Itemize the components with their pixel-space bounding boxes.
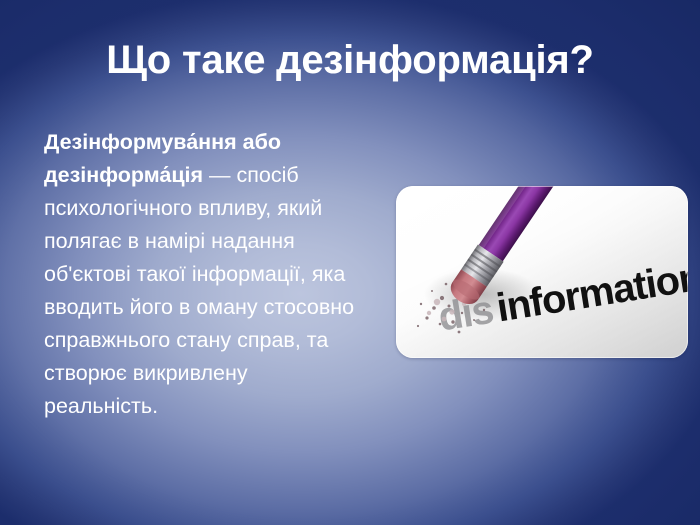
body-definition-text: — спосіб психологічного впливу, який пол…	[44, 163, 354, 418]
page-title: Що таке дезінформація?	[0, 38, 700, 83]
eraser-erasing-disinformation-graphic: dis information	[396, 186, 688, 358]
disinformation-eraser-image: dis information	[396, 186, 688, 358]
body-paragraph: Дезінформува́ння або дезінформа́ція — сп…	[44, 126, 364, 423]
slide-canvas: Що таке дезінформація? Дезінформува́ння …	[0, 0, 700, 525]
